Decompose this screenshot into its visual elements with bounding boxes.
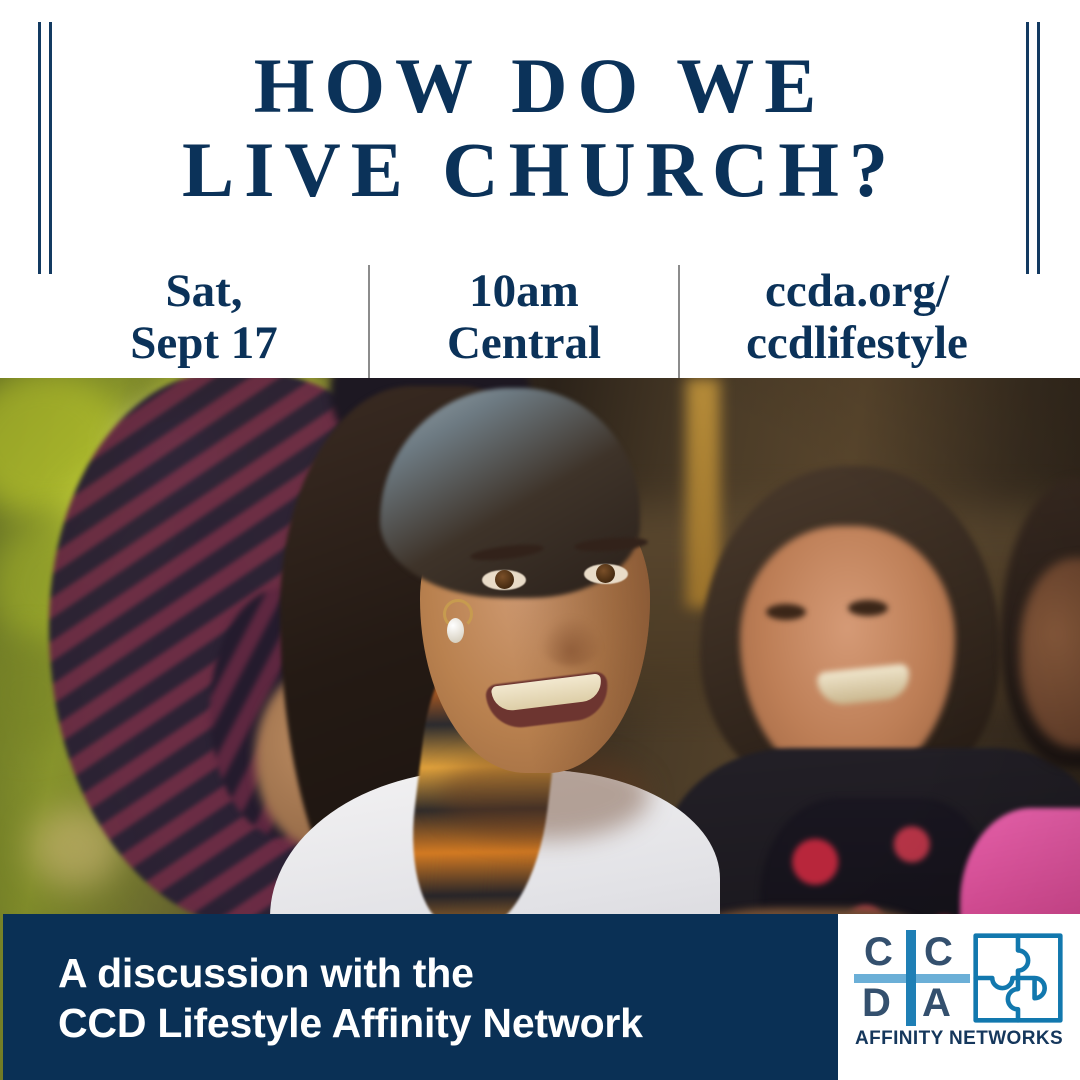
registration-url-line-2: ccdlifestyle	[746, 317, 968, 369]
main-subject-earring	[447, 618, 464, 643]
event-details-row: Sat, Sept 17 10am Central ccda.org/ ccdl…	[0, 255, 1080, 378]
event-time: 10am Central	[372, 255, 676, 378]
event-date: Sat, Sept 17	[44, 255, 364, 378]
main-subject-iris	[596, 564, 615, 583]
footer-line-2: CCD Lifestyle Affinity Network	[58, 998, 643, 1048]
ccda-logo-letters: C C D A	[860, 932, 964, 1024]
main-subject-nose	[540, 616, 602, 666]
flyer-header: HOW DO WE LIVE CHURCH? Sat, Sept 17 10am…	[0, 0, 1080, 378]
footer-line-1: A discussion with the	[58, 948, 643, 998]
ccda-logo: C C D A	[860, 932, 1060, 1024]
event-date-line-2: Sept 17	[130, 317, 278, 369]
event-registration-url[interactable]: ccda.org/ ccdlifestyle	[682, 255, 1032, 378]
event-time-line-2: Central	[447, 317, 601, 369]
detail-divider	[368, 265, 370, 378]
event-date-line-1: Sat,	[165, 265, 242, 317]
person-two-eye	[848, 600, 888, 616]
ccda-logo-letter-d: D	[862, 983, 891, 1023]
footer-text: A discussion with the CCD Lifestyle Affi…	[58, 948, 643, 1048]
person-two-face	[740, 526, 955, 781]
ccda-logo-caption: AFFINITY NETWORKS	[838, 1028, 1080, 1050]
headline-line-2: LIVE CHURCH?	[0, 128, 1080, 212]
event-time-line-1: 10am	[469, 265, 579, 317]
event-flyer: HOW DO WE LIVE CHURCH? Sat, Sept 17 10am…	[0, 0, 1080, 1080]
puzzle-icon	[972, 932, 1064, 1024]
ccda-logo-letter-a: A	[922, 983, 951, 1023]
main-subject-iris	[495, 570, 514, 589]
flyer-footer-banner: A discussion with the CCD Lifestyle Affi…	[3, 914, 838, 1080]
registration-url-line-1: ccda.org/	[765, 265, 949, 317]
ccda-logo-vertical-bar	[906, 930, 916, 1026]
ccda-logo-panel: C C D A AFFINITY NETWORKS	[838, 914, 1080, 1080]
detail-divider	[678, 265, 680, 378]
ccda-logo-letter-c1: C	[864, 932, 893, 972]
person-two-eye	[766, 604, 806, 620]
page-title: HOW DO WE LIVE CHURCH?	[0, 44, 1080, 212]
ccda-logo-letter-c2: C	[924, 932, 953, 972]
headline-line-1: HOW DO WE	[0, 44, 1080, 128]
